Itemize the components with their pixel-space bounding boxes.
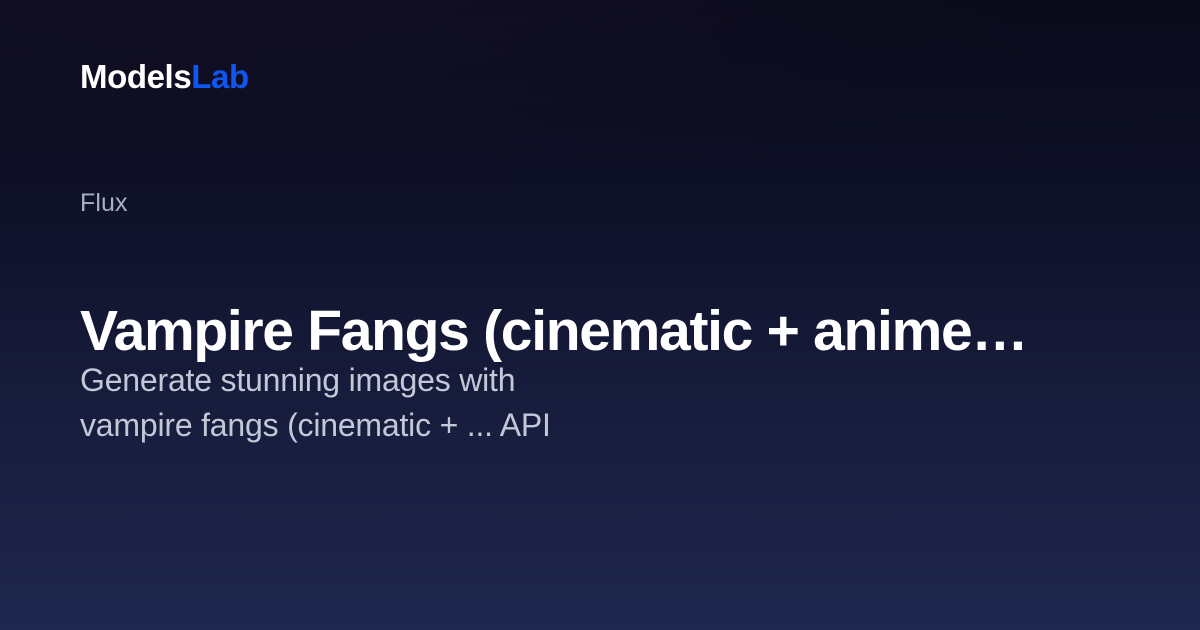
page-description: Generate stunning images with vampire fa… xyxy=(80,358,740,448)
description-line: Generate stunning images with xyxy=(80,358,740,403)
card-content: ModelsLab Flux Vampire Fangs (cinematic … xyxy=(0,0,1200,630)
page-title: Vampire Fangs (cinematic + anime… xyxy=(80,300,1080,364)
open-graph-card: ModelsLab Flux Vampire Fangs (cinematic … xyxy=(0,0,1200,630)
description-line: vampire fangs (cinematic + ... API xyxy=(80,403,740,448)
brand-name-primary: Models xyxy=(80,60,191,93)
brand-logo[interactable]: ModelsLab xyxy=(80,60,249,93)
brand-name-accent: Lab xyxy=(191,60,248,93)
category-eyebrow: Flux xyxy=(80,188,128,218)
